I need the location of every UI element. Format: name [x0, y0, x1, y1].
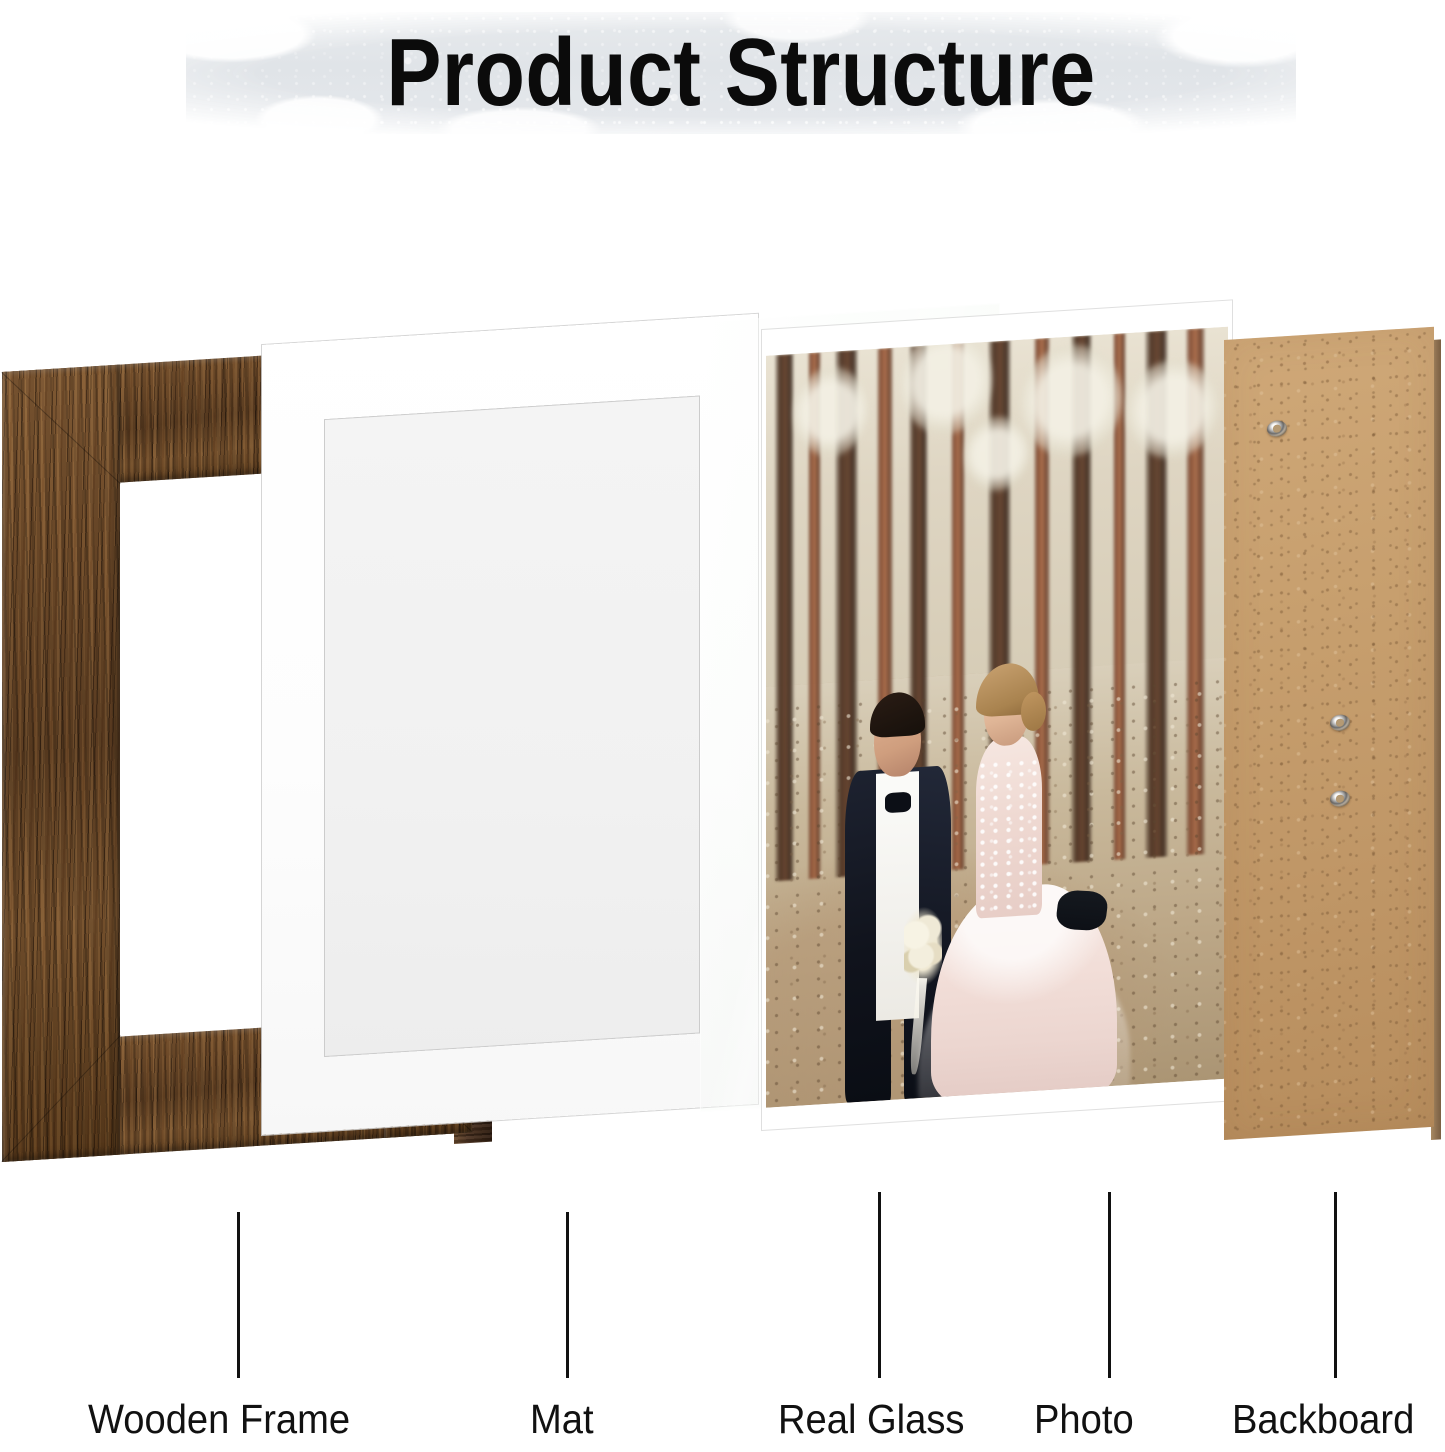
layer-backboard — [1224, 340, 1445, 1140]
leader-line-real-glass — [878, 1192, 881, 1378]
mat-board — [262, 314, 758, 1135]
bride-hair-bun — [1021, 692, 1046, 732]
leader-line-photo — [1108, 1192, 1111, 1378]
caption-real-glass: Real Glass — [778, 1396, 964, 1443]
caption-photo: Photo — [1034, 1396, 1134, 1443]
exploded-product-diagram — [0, 0, 1445, 1200]
photo-image-wedding-couple — [766, 327, 1228, 1108]
grommet-icon — [1330, 790, 1350, 807]
photo-bouquet — [904, 905, 942, 987]
groom-bowtie — [885, 792, 912, 814]
caption-backboard: Backboard — [1232, 1396, 1414, 1443]
layer-photo — [762, 330, 1232, 1130]
frame-rail-left — [2, 365, 120, 1162]
photo-bride — [951, 657, 1117, 1096]
groom-arm — [1055, 889, 1109, 931]
backboard-panel — [1224, 327, 1434, 1140]
leader-line-mat — [566, 1212, 569, 1378]
grommet-icon — [1267, 420, 1287, 437]
leader-line-wooden-frame — [237, 1212, 240, 1378]
leader-line-backboard — [1334, 1192, 1337, 1378]
layer-mat — [262, 345, 758, 1135]
bride-lace-detail — [976, 756, 1043, 914]
mat-window-opening — [324, 395, 700, 1057]
grommet-icon — [1330, 714, 1350, 731]
photo-print — [762, 300, 1232, 1130]
caption-wooden-frame: Wooden Frame — [88, 1396, 350, 1443]
caption-row: Wooden Frame Mat Real Glass Photo Backbo… — [0, 1396, 1445, 1452]
caption-mat: Mat — [530, 1396, 594, 1443]
